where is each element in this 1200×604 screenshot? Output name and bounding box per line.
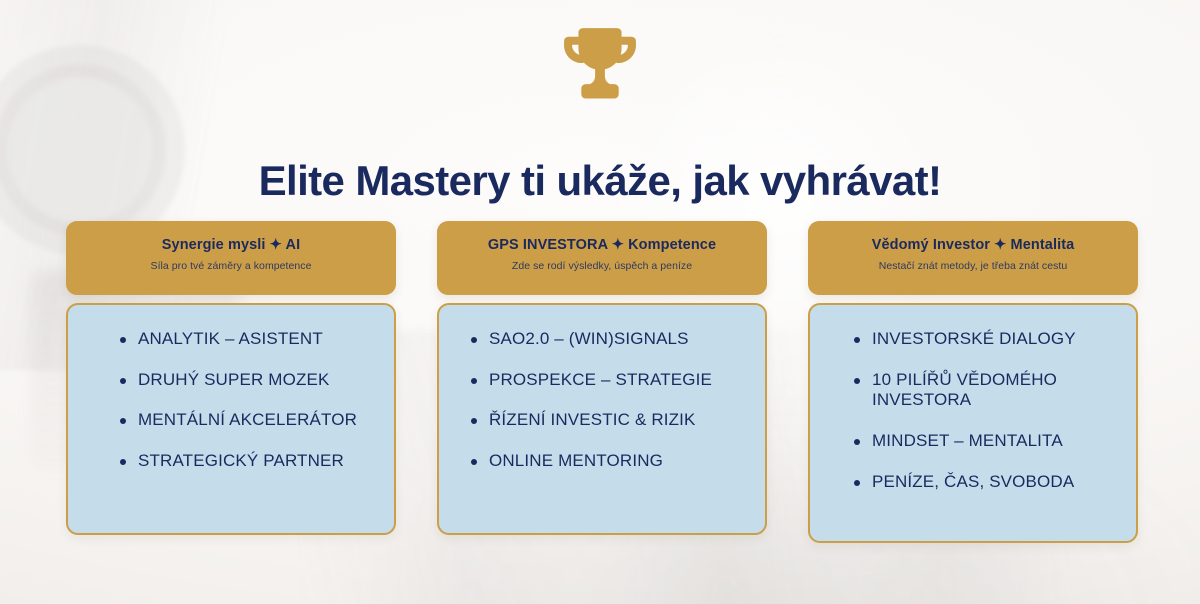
feature-card-gps-investora: GPS INVESTORA ✦ Kompetence Zde se rodí v…: [437, 221, 767, 535]
list-item: STRATEGICKÝ PARTNER: [114, 451, 380, 472]
card-title: Vědomý Investor ✦ Mentalita: [820, 237, 1126, 254]
card-title: GPS INVESTORA ✦ Kompetence: [449, 237, 755, 254]
list-item: INVESTORSKÉ DIALOGY: [848, 329, 1122, 350]
card-subtitle: Síla pro tvé záměry a kompetence: [78, 260, 384, 272]
slide-content: Elite Mastery ti ukáže, jak vyhrávat! Sy…: [0, 0, 1200, 604]
feature-list: ANALYTIK – ASISTENT DRUHÝ SUPER MOZEK ME…: [114, 329, 380, 472]
list-item: ANALYTIK – ASISTENT: [114, 329, 380, 350]
list-item: MENTÁLNÍ AKCELERÁTOR: [114, 410, 380, 431]
list-item: PROSPEKCE – STRATEGIE: [465, 370, 751, 391]
list-item: ŘÍZENÍ INVESTIC & RIZIK: [465, 410, 751, 431]
card-body-synergie: ANALYTIK – ASISTENT DRUHÝ SUPER MOZEK ME…: [66, 303, 396, 535]
card-body-gps-investora: SAO2.0 – (WIN)SIGNALS PROSPEKCE – STRATE…: [437, 303, 767, 535]
card-header-synergie: Synergie mysli ✦ AI Síla pro tvé záměry …: [66, 221, 396, 295]
card-header-gps-investora: GPS INVESTORA ✦ Kompetence Zde se rodí v…: [437, 221, 767, 295]
feature-list: INVESTORSKÉ DIALOGY 10 PILÍŘŮ VĚDOMÉHO I…: [848, 329, 1122, 493]
list-item: SAO2.0 – (WIN)SIGNALS: [465, 329, 751, 350]
card-body-vedomy-investor: INVESTORSKÉ DIALOGY 10 PILÍŘŮ VĚDOMÉHO I…: [808, 303, 1138, 543]
card-title: Synergie mysli ✦ AI: [78, 237, 384, 254]
list-item: PENÍZE, ČAS, SVOBODA: [848, 472, 1122, 493]
slide-canvas: Elite Mastery ti ukáže, jak vyhrávat! Sy…: [0, 0, 1200, 604]
feature-card-synergie: Synergie mysli ✦ AI Síla pro tvé záměry …: [66, 221, 396, 535]
feature-list: SAO2.0 – (WIN)SIGNALS PROSPEKCE – STRATE…: [465, 329, 751, 472]
page-title: Elite Mastery ti ukáže, jak vyhrávat!: [0, 157, 1200, 204]
card-subtitle: Zde se rodí výsledky, úspěch a peníze: [449, 260, 755, 272]
card-subtitle: Nestačí znát metody, je třeba znát cestu: [820, 260, 1126, 272]
list-item: DRUHÝ SUPER MOZEK: [114, 370, 380, 391]
list-item: 10 PILÍŘŮ VĚDOMÉHO INVESTORA: [848, 370, 1122, 411]
trophy-icon: [554, 18, 646, 110]
card-header-vedomy-investor: Vědomý Investor ✦ Mentalita Nestačí znát…: [808, 221, 1138, 295]
feature-card-grid: Synergie mysli ✦ AI Síla pro tvé záměry …: [66, 221, 1138, 543]
list-item: MINDSET – MENTALITA: [848, 431, 1122, 452]
trophy-icon-container: [0, 18, 1200, 110]
feature-card-vedomy-investor: Vědomý Investor ✦ Mentalita Nestačí znát…: [808, 221, 1138, 543]
list-item: ONLINE MENTORING: [465, 451, 751, 472]
